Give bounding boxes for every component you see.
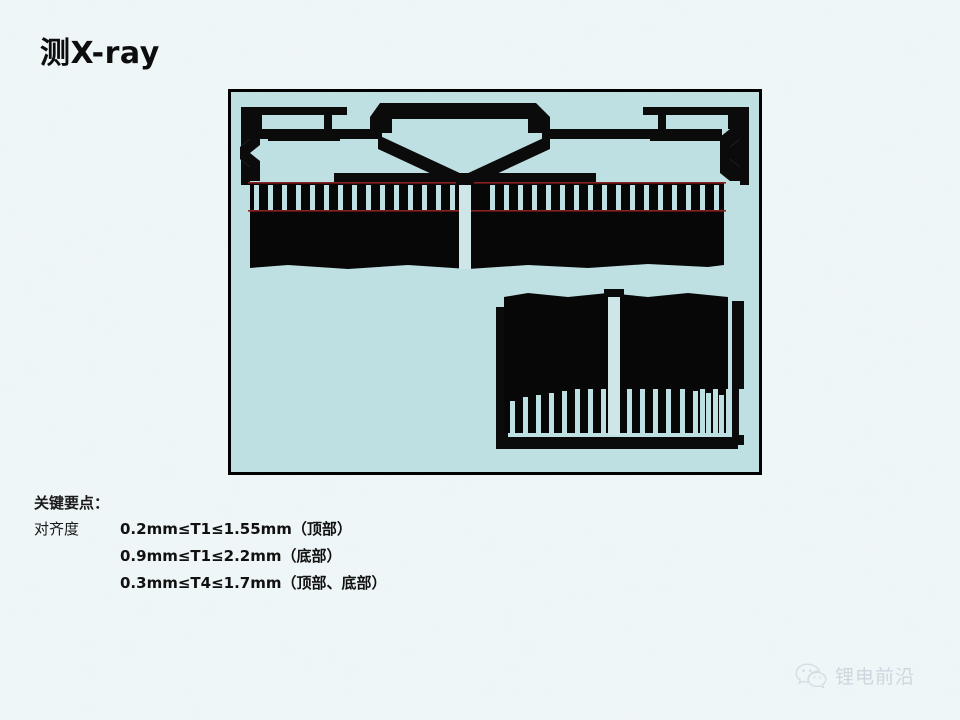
key-points-value-3: 0.3mm≤T4≤1.7mm（顶部、底部） [120,570,386,597]
xray-figure [228,89,762,475]
top-center-strip [459,183,471,269]
bottom-cell-xray [496,289,757,449]
watermark-text: 锂电前沿 [835,662,915,689]
key-points-row-1: 对齐度 0.2mm≤T1≤1.55mm（顶部） [34,516,554,543]
key-points-value-2: 0.9mm≤T1≤2.2mm（底部） [120,543,341,570]
key-points-row-3: 0.3mm≤T4≤1.7mm（顶部、底部） [34,570,554,597]
key-points-row-2: 0.9mm≤T1≤2.2mm（底部） [34,543,554,570]
watermark: 锂电前沿 [795,662,915,689]
wechat-icon [795,663,827,689]
bottom-center-strip [608,295,620,435]
xray-image-panel [228,89,762,475]
page-title: 测X-ray [40,36,160,72]
key-points-heading: 关键要点： [34,492,554,514]
key-points-label: 对齐度 [34,516,120,543]
key-points-value-1: 0.2mm≤T1≤1.55mm（顶部） [120,516,352,543]
top-tab-comb [250,183,724,213]
key-points-block: 关键要点： 对齐度 0.2mm≤T1≤1.55mm（顶部） 0.9mm≤T1≤2… [34,492,554,597]
slide-canvas: 测X-ray [0,0,960,720]
